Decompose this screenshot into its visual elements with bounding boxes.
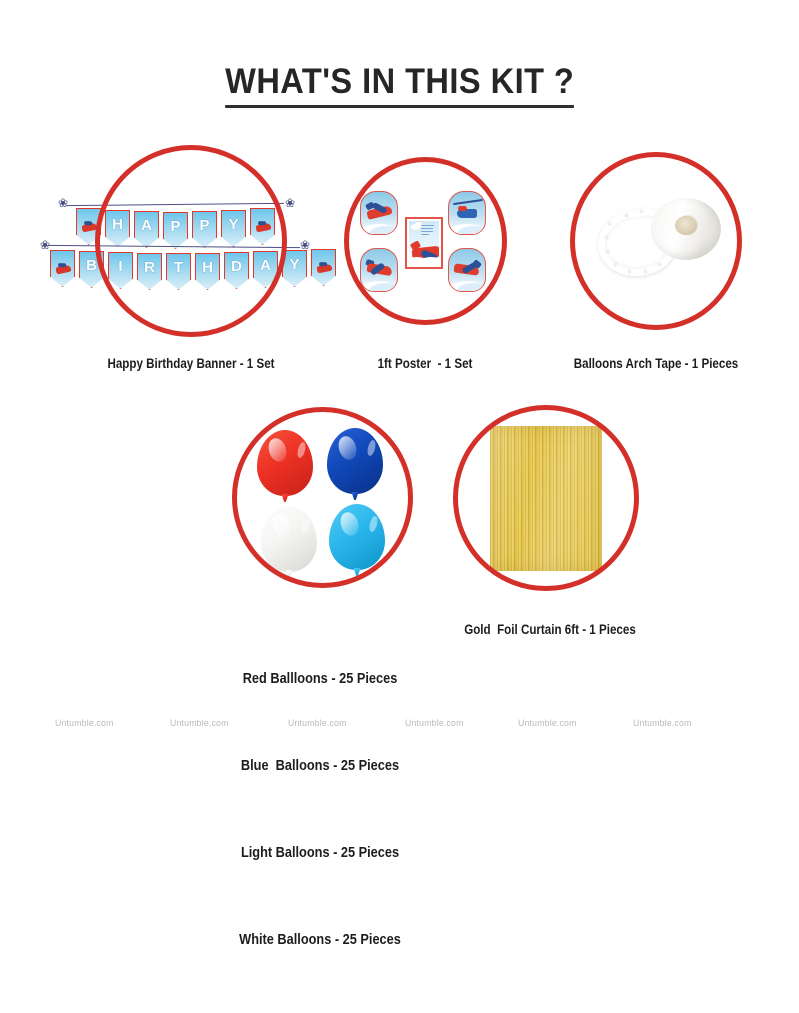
poster-cutout-helicopter-topright xyxy=(448,191,486,235)
caption-balloons-blue: Blue Balloons - 25 Pieces xyxy=(232,752,408,781)
bow-icon: ❀ xyxy=(40,240,51,251)
balloon-red xyxy=(257,430,313,496)
banner-string-bottom xyxy=(48,245,300,250)
banner-flag-plane xyxy=(311,249,336,286)
poster-cutout-plane-bottomleft xyxy=(360,248,398,292)
watermark: Untumble.com xyxy=(170,718,229,729)
banner-flag-letter: Y xyxy=(221,210,246,247)
caption-gold-curtain: Gold Foil Curtain 6ft - 1 Pieces xyxy=(460,617,641,642)
watermark: Untumble.com xyxy=(518,718,577,729)
banner-flag-letter: H xyxy=(195,253,220,290)
tape-roll xyxy=(651,198,721,260)
caption-balloons-white: White Balloons - 25 Pieces xyxy=(232,926,408,955)
banner-flag-letter: T xyxy=(166,253,191,290)
caption-poster: 1ft Poster - 1 Set xyxy=(339,351,511,376)
caption-balloons-light: Light Balloons - 25 Pieces xyxy=(232,839,408,868)
banner-flag-letter: H xyxy=(105,210,130,247)
caption-banner: Happy Birthday Banner - 1 Set xyxy=(62,351,320,376)
arch-tape-artwork xyxy=(592,188,727,298)
banner-flag-letter: Y xyxy=(282,250,307,287)
poster-artwork xyxy=(355,182,495,302)
tape-core-hole xyxy=(675,216,697,235)
watermark: Untumble.com xyxy=(633,718,692,729)
bow-icon: ❀ xyxy=(285,198,296,209)
poster-text-lines xyxy=(421,225,437,237)
watermark-row: Untumble.com Untumble.com Untumble.com U… xyxy=(0,718,799,736)
banner-string-top xyxy=(66,203,284,208)
caption-balloons: Red Ballloons - 25 Pieces Blue Balloons … xyxy=(232,607,408,1013)
banner-flag-plane xyxy=(50,250,75,287)
watermark: Untumble.com xyxy=(288,718,347,729)
banner-flag-letter: R xyxy=(137,253,162,290)
watermark: Untumble.com xyxy=(405,718,464,729)
caption-arch-tape: Balloons Arch Tape - 1 Pieces xyxy=(570,351,742,376)
banner-flag-letter: I xyxy=(108,252,133,289)
banner-flag-letter: B xyxy=(79,251,104,288)
page-title-wrap: WHAT'S IN THIS KIT ? xyxy=(0,62,799,108)
gold-curtain-artwork xyxy=(490,426,602,571)
banner-artwork: ❀ ❀ H A P P Y ❀ ❀ B I R T H D A Y xyxy=(42,186,342,306)
gold-foil-fringe xyxy=(490,426,602,571)
balloons-artwork xyxy=(255,428,405,583)
banner-flag-letter: A xyxy=(134,211,159,248)
banner-flag-letter: P xyxy=(163,212,188,249)
poster-cutout-plane-bottomright xyxy=(448,248,486,292)
banner-flag-letter: A xyxy=(253,251,278,288)
balloon-blue xyxy=(327,428,383,494)
caption-balloons-red: Red Ballloons - 25 Pieces xyxy=(232,665,408,694)
poster-card xyxy=(405,217,443,269)
poster-cutout-plane-topleft xyxy=(360,191,398,235)
page-title: WHAT'S IN THIS KIT ? xyxy=(225,62,574,108)
balloon-light-blue xyxy=(329,504,385,570)
watermark: Untumble.com xyxy=(55,718,114,729)
banner-flag-letter: P xyxy=(192,211,217,248)
banner-flag-plane xyxy=(250,208,275,245)
balloon-white xyxy=(261,506,317,572)
bow-icon: ❀ xyxy=(58,198,69,209)
infographic-page: WHAT'S IN THIS KIT ? ❀ ❀ H A P P Y ❀ ❀ B… xyxy=(0,0,799,800)
banner-flag-plane xyxy=(76,208,101,245)
banner-flag-letter: D xyxy=(224,252,249,289)
bow-icon: ❀ xyxy=(300,240,311,251)
